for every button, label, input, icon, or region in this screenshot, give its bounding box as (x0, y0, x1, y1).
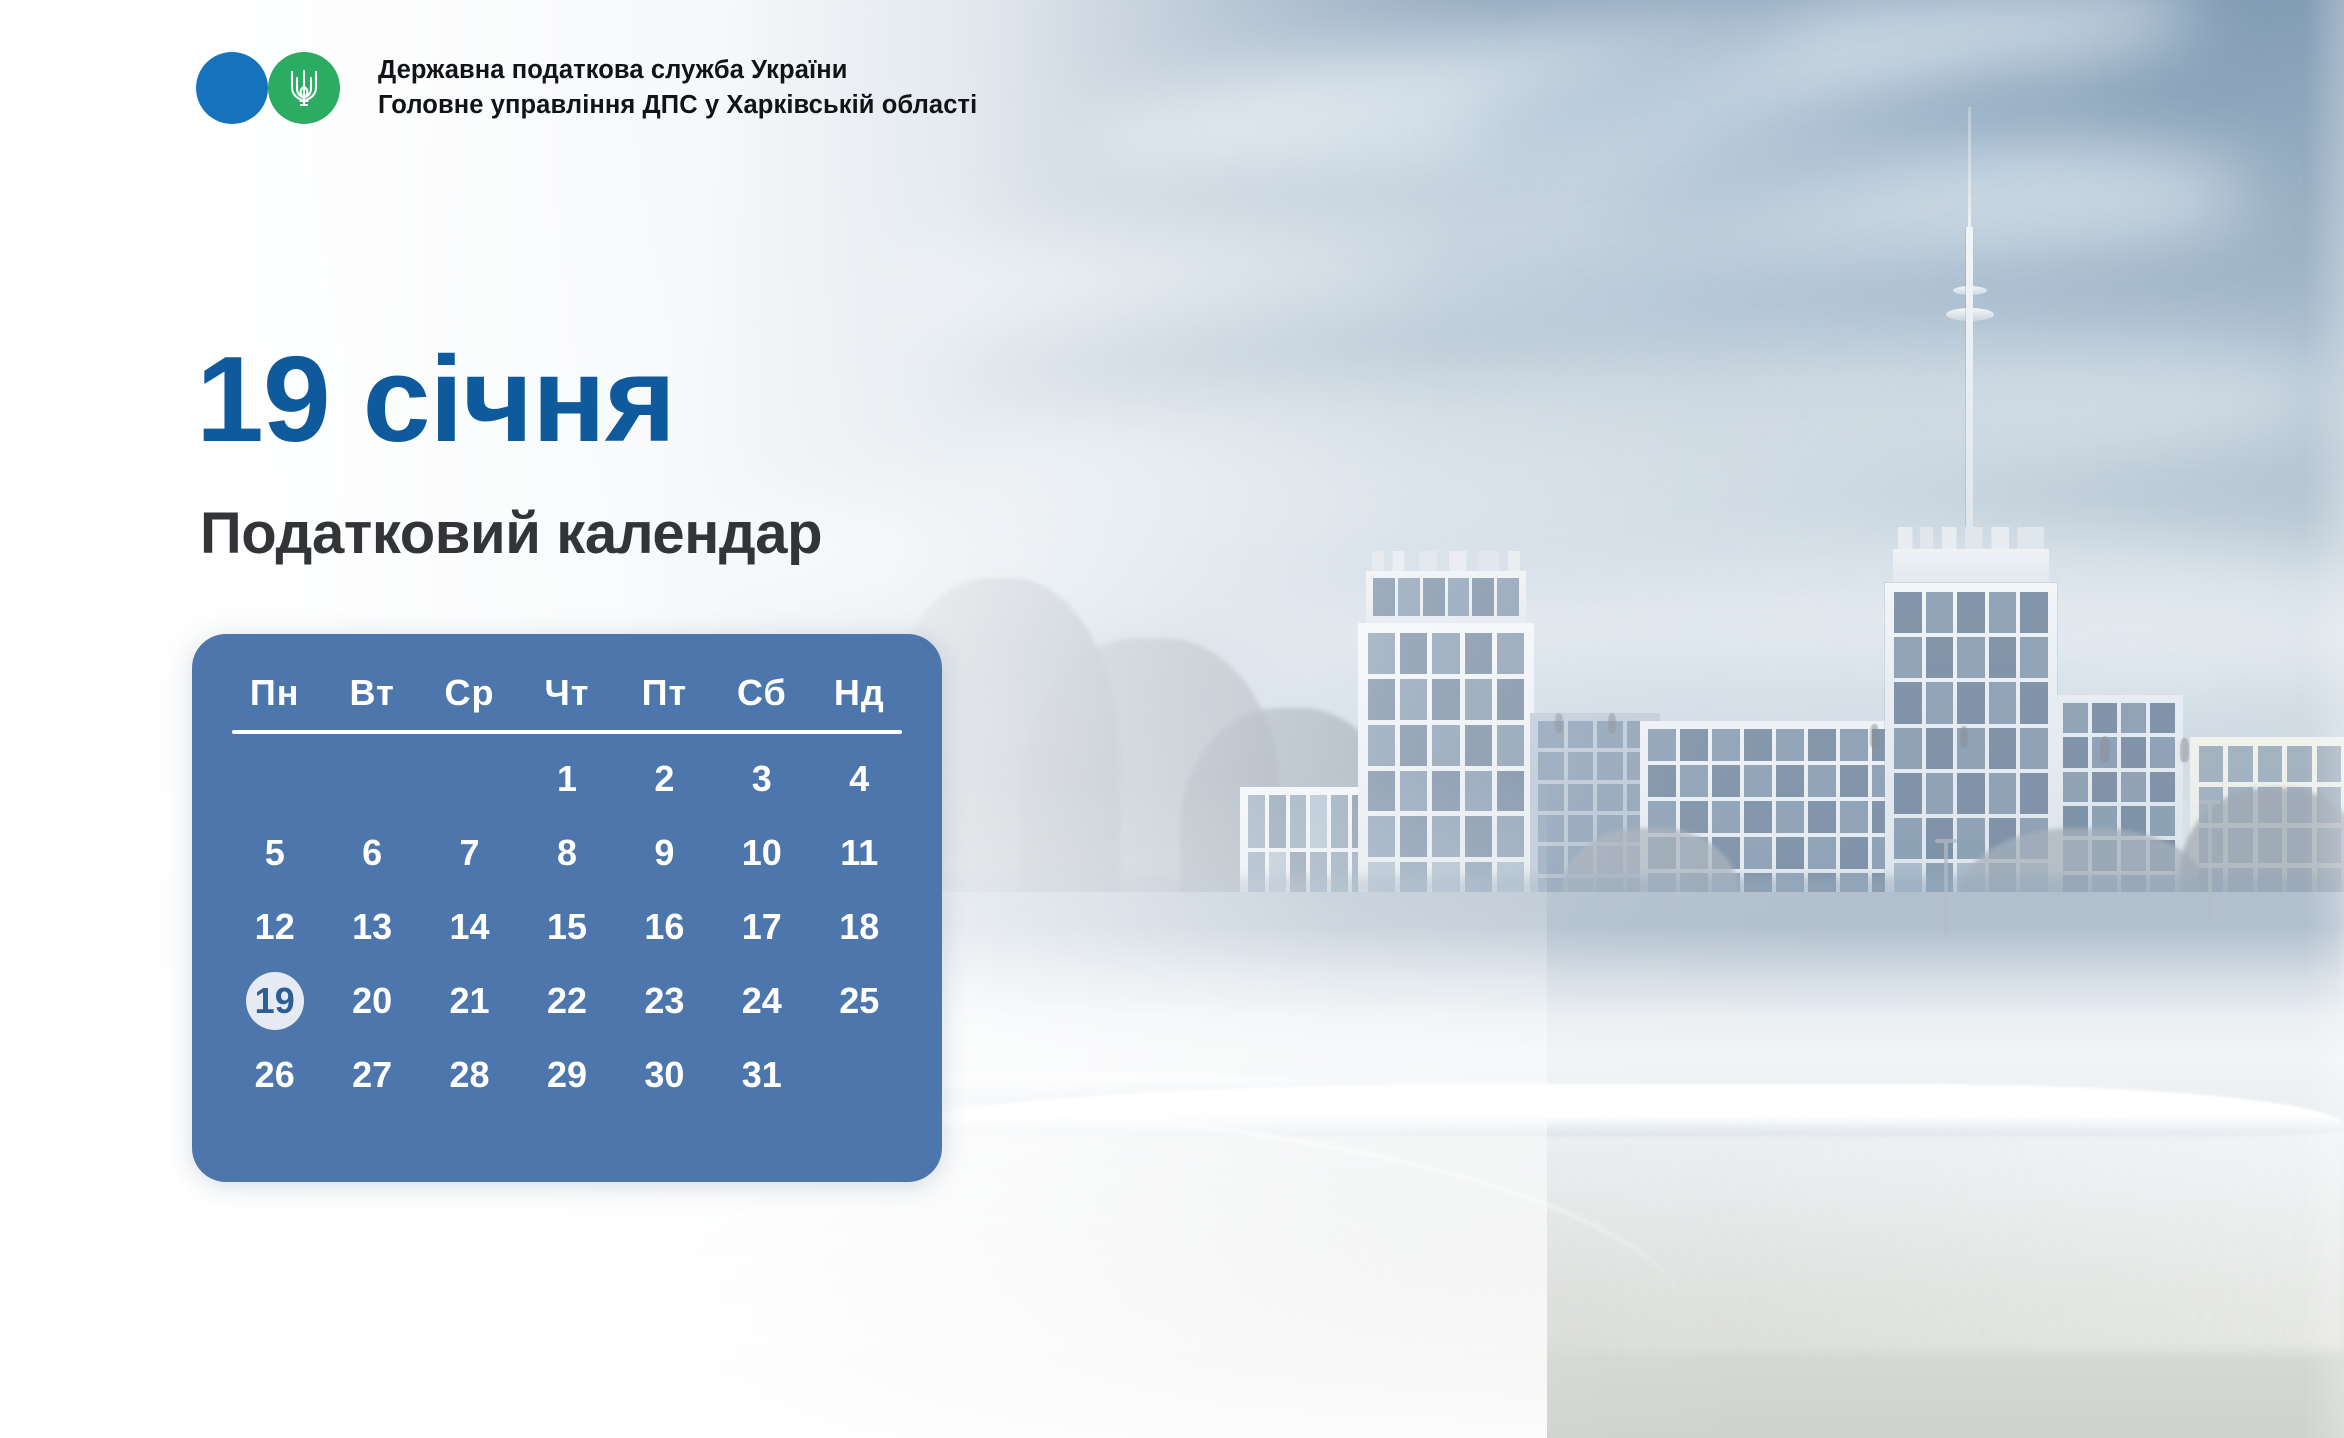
calendar-day-number: 15 (538, 898, 596, 956)
tv-tower-icon (1966, 227, 1973, 527)
calendar-day (226, 742, 323, 816)
calendar-day[interactable]: 30 (616, 1038, 713, 1112)
calendar-day[interactable]: 24 (713, 964, 810, 1038)
calendar-day-number: 20 (343, 972, 401, 1030)
calendar-day (811, 1038, 908, 1112)
calendar-day-number: 18 (830, 898, 888, 956)
calendar-day[interactable]: 6 (323, 816, 420, 890)
calendar-day[interactable]: 14 (421, 890, 518, 964)
ukraine-trident-icon (286, 65, 322, 111)
calendar-day[interactable]: 17 (713, 890, 810, 964)
calendar-day-number: 13 (343, 898, 401, 956)
calendar-day[interactable]: 4 (811, 742, 908, 816)
pedestrian (2100, 736, 2110, 762)
calendar-week-row: 1 2 3 4 (226, 742, 908, 816)
calendar-day-number: 8 (538, 824, 596, 882)
calendar-week-row: 5 6 7 8 9 10 11 (226, 816, 908, 890)
calendar-header-divider (232, 730, 902, 734)
calendar-day[interactable]: 3 (713, 742, 810, 816)
calendar-day[interactable]: 1 (518, 742, 615, 816)
calendar-card: Пн Вт Ср Чт Пт Сб Нд 1 2 3 (192, 634, 942, 1182)
brand-header: Державна податкова служба України Головн… (196, 52, 977, 124)
calendar-day-number: 3 (733, 750, 791, 808)
calendar-day[interactable]: 9 (616, 816, 713, 890)
calendar-day-number: 16 (635, 898, 693, 956)
calendar-day[interactable]: 31 (713, 1038, 810, 1112)
pedestrian (2180, 738, 2189, 762)
calendar-day-number: 27 (343, 1046, 401, 1104)
calendar-day-number: 12 (246, 898, 304, 956)
calendar-day-number: 26 (246, 1046, 304, 1104)
calendar-day[interactable]: 18 (811, 890, 908, 964)
calendar-day-number: 14 (441, 898, 499, 956)
roof-structure (1898, 527, 2044, 549)
pedestrian (520, 1232, 540, 1294)
calendar-day-number: 30 (635, 1046, 693, 1104)
window-grid (1366, 571, 1526, 623)
calendar-day[interactable]: 16 (616, 890, 713, 964)
calendar-day-number: 7 (441, 824, 499, 882)
org-name: Державна податкова служба України Головн… (378, 55, 977, 120)
poster-canvas: Державна податкова служба України Головн… (0, 0, 2344, 1438)
calendar-day (421, 742, 518, 816)
calendar-day[interactable]: 23 (616, 964, 713, 1038)
calendar-day-number: 23 (635, 972, 693, 1030)
calendar-day[interactable]: 8 (518, 816, 615, 890)
building-tower-left (1358, 623, 1534, 913)
weekday-sun: Нд (811, 664, 908, 730)
calendar-day-number: 10 (733, 824, 791, 882)
calendar-week-row: 12 13 14 15 16 17 18 (226, 890, 908, 964)
calendar-day[interactable]: 5 (226, 816, 323, 890)
calendar-day[interactable]: 25 (811, 964, 908, 1038)
logo-blue-circle-icon (196, 52, 268, 124)
calendar-day-number: 9 (635, 824, 693, 882)
logo (196, 52, 356, 124)
calendar-day[interactable]: 10 (713, 816, 810, 890)
pedestrian (1555, 713, 1563, 733)
calendar-day-number: 22 (538, 972, 596, 1030)
calendar-days-grid: 1 2 3 4 5 6 7 8 9 10 11 12 13 14 (226, 742, 908, 1112)
weekday-fri: Пт (616, 664, 713, 730)
calendar-day-number: 21 (441, 972, 499, 1030)
calendar-day-number: 19 (246, 972, 304, 1030)
calendar-day-number: 17 (733, 898, 791, 956)
calendar-grid: Пн Вт Ср Чт Пт Сб Нд (226, 664, 908, 730)
calendar-day-selected[interactable]: 19 (226, 964, 323, 1038)
tv-tower-antenna-icon (1968, 107, 1971, 227)
calendar-day-number: 28 (441, 1046, 499, 1104)
calendar-day-number (246, 746, 304, 804)
calendar-day-number: 6 (343, 824, 401, 882)
calendar-day-number (830, 1042, 888, 1100)
calendar-day-number: 5 (246, 824, 304, 882)
pedestrian (1870, 724, 1879, 748)
calendar-day[interactable]: 26 (226, 1038, 323, 1112)
calendar-day[interactable]: 7 (421, 816, 518, 890)
calendar-day[interactable]: 13 (323, 890, 420, 964)
calendar-day[interactable]: 15 (518, 890, 615, 964)
calendar-day-number: 31 (733, 1046, 791, 1104)
calendar-day-number: 11 (830, 824, 888, 882)
calendar-day[interactable]: 27 (323, 1038, 420, 1112)
calendar-week-row: 26 27 28 29 30 31 (226, 1038, 908, 1112)
building-penthouse (1366, 571, 1526, 623)
calendar-weekday-row: Пн Вт Ср Чт Пт Сб Нд (226, 664, 908, 730)
logo-green-circle-icon (268, 52, 340, 124)
calendar-day[interactable]: 29 (518, 1038, 615, 1112)
roof-structure (1372, 551, 1520, 571)
page-subtitle: Податковий календар (200, 500, 822, 567)
org-name-line-2: Головне управління ДПС у Харківській обл… (378, 90, 977, 121)
weekday-tue: Вт (323, 664, 420, 730)
calendar-day-number: 24 (733, 972, 791, 1030)
calendar-day[interactable]: 2 (616, 742, 713, 816)
pedestrian (1960, 726, 1968, 748)
weekday-thu: Чт (518, 664, 615, 730)
window-grid (1358, 623, 1534, 913)
calendar-week-row: 19 20 21 22 23 24 25 (226, 964, 908, 1038)
street-lamp-icon (2208, 800, 2212, 920)
calendar-day[interactable]: 22 (518, 964, 615, 1038)
weekday-mon: Пн (226, 664, 323, 730)
pedestrian (1608, 713, 1616, 733)
calendar-day[interactable]: 21 (421, 964, 518, 1038)
street-lamp-icon (1944, 839, 1948, 935)
calendar-day[interactable]: 28 (421, 1038, 518, 1112)
calendar-day[interactable]: 11 (811, 816, 908, 890)
calendar-day-number: 2 (635, 750, 693, 808)
calendar-day-number: 29 (538, 1046, 596, 1104)
calendar-day (323, 742, 420, 816)
calendar-day[interactable]: 20 (323, 964, 420, 1038)
calendar-day-number (343, 746, 401, 804)
weekday-wed: Ср (421, 664, 518, 730)
org-name-line-1: Державна податкова служба України (378, 55, 977, 86)
calendar-day-number: 1 (538, 750, 596, 808)
weekday-sat: Сб (713, 664, 810, 730)
calendar-day-number: 4 (830, 750, 888, 808)
calendar-day-number: 25 (830, 972, 888, 1030)
calendar-day-number (441, 746, 499, 804)
building-penthouse (1893, 549, 2049, 583)
page-title: 19 січня (196, 340, 675, 460)
calendar-day[interactable]: 12 (226, 890, 323, 964)
